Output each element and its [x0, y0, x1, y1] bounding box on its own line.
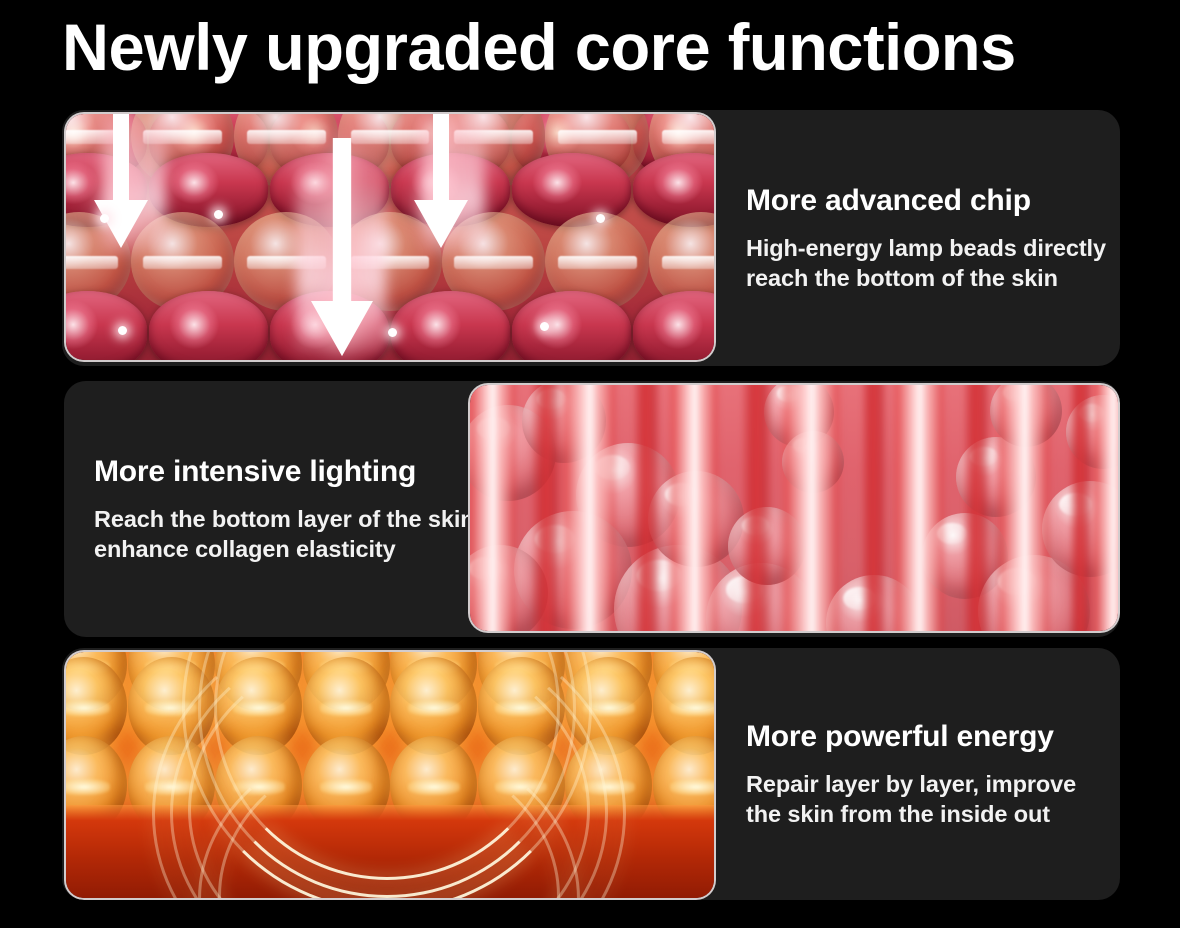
feature-card-2: More intensive lighting Reach the bottom… — [64, 381, 1120, 637]
down-arrow-icon — [311, 138, 373, 356]
feature-heading-3: More powerful energy — [746, 719, 1110, 755]
page-title: Newly upgraded core functions — [62, 4, 1116, 90]
feature-image-1 — [64, 112, 716, 362]
golden-spheres-image — [66, 652, 714, 898]
feature-card-1: More advanced chip High-energy lamp bead… — [62, 110, 1120, 366]
capsule-row — [66, 291, 714, 360]
feature-card-3: More powerful energy Repair layer by lay… — [62, 648, 1120, 900]
feature-heading-2: More intensive lighting — [94, 454, 486, 490]
down-arrow-icon — [94, 114, 148, 248]
feature-body-1: High-energy lamp beads directly reach th… — [746, 233, 1110, 293]
feature-body-3: Repair layer by layer, improve the skin … — [746, 769, 1110, 829]
red-light-beams-image — [470, 385, 1118, 631]
feature-image-3 — [64, 650, 716, 900]
feature-text-3: More powerful energy Repair layer by lay… — [746, 648, 1118, 900]
feature-image-2 — [468, 383, 1120, 633]
feature-text-2: More intensive lighting Reach the bottom… — [94, 381, 486, 637]
feature-text-1: More advanced chip High-energy lamp bead… — [746, 110, 1118, 366]
lamp-bead-array-image — [66, 114, 714, 360]
down-arrow-icon — [414, 114, 468, 248]
feature-heading-1: More advanced chip — [746, 183, 1110, 219]
feature-body-2: Reach the bottom layer of the skin, enha… — [94, 504, 486, 564]
